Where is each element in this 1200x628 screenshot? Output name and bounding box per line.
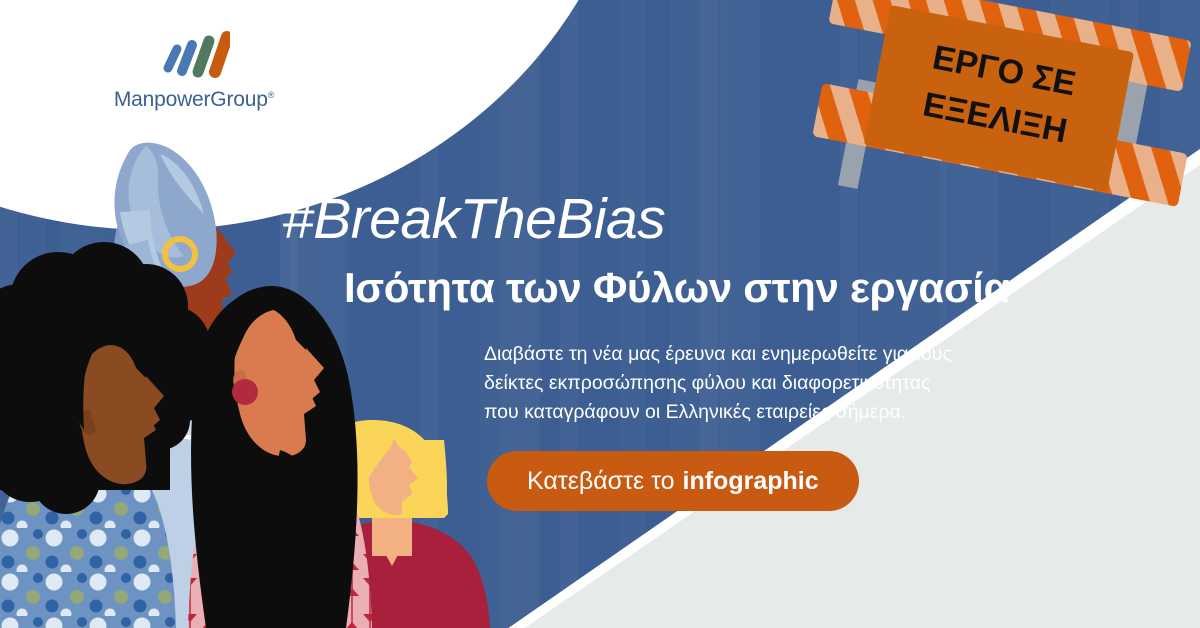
copy-block: #BreakTheBias Ισότητα των Φύλων στην εργ… — [0, 0, 1200, 628]
description-paragraph: Διαβάστε τη νέα μας έρευνα και ενημερωθε… — [484, 340, 1004, 427]
description-line-3: που καταγράφουν οι Ελληνικές εταιρείες σ… — [484, 398, 1004, 427]
page-title: Ισότητα των Φύλων στην εργασία — [344, 266, 1009, 310]
hashtag-headline: #BreakTheBias — [282, 191, 665, 248]
breakthebias-banner: ManpowerGroup® ΕΡΓΟ ΣΕ ΕΞΕΛΙΞΗ #BreakThe… — [0, 0, 1200, 628]
description-line-2: δείκτες εκπροσώπησης φύλου και διαφορετι… — [484, 369, 1004, 398]
description-line-1: Διαβάστε τη νέα μας έρευνα και ενημερωθε… — [484, 340, 1004, 369]
cta-label-bold: infographic — [683, 467, 819, 496]
cta-label-regular: Κατεβάστε το — [527, 467, 675, 496]
download-infographic-button[interactable]: Κατεβάστε το infographic — [487, 451, 859, 511]
